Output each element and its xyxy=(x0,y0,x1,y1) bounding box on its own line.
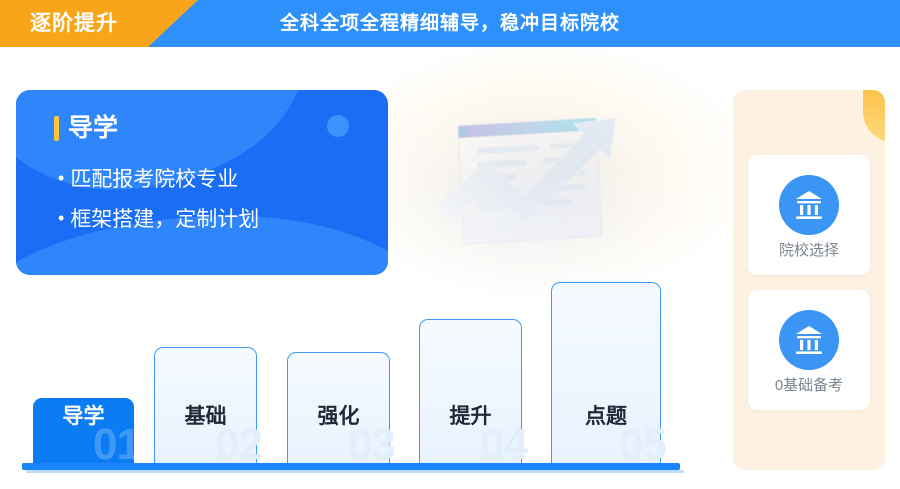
step-bar-number: 04 xyxy=(480,423,527,467)
bullet-dot-icon: • xyxy=(58,168,64,188)
growth-chart-document-illustration xyxy=(432,100,632,260)
step-bar-04[interactable]: 04提升 xyxy=(419,319,522,463)
step-bar-label: 强化 xyxy=(288,405,389,429)
header-badge-label: 逐阶提升 xyxy=(30,8,118,39)
card-bullet-text: 匹配报考院校专业 xyxy=(70,168,238,191)
dao-xue-info-card[interactable]: 导学 •匹配报考院校专业 •框架搭建，定制计划 xyxy=(16,90,388,275)
card-title-accent-bar xyxy=(54,116,59,141)
card-bullet-item: •框架搭建，定制计划 xyxy=(58,204,259,234)
sidebar-card-label: 院校选择 xyxy=(748,241,870,261)
sidebar-card-1[interactable]: 院校选择 xyxy=(748,155,870,275)
card-bullet-text: 框架搭建，定制计划 xyxy=(70,208,259,231)
steps-baseline xyxy=(22,463,680,470)
promo-banner-root: 全科全项全程精细辅导，稳冲目标院校 逐阶提升 导学 •匹配报考院校专业 •框架搭… xyxy=(0,0,900,489)
step-bar-number: 05 xyxy=(619,423,666,467)
sidebar-card-2[interactable]: 0基础备考 xyxy=(748,290,870,410)
bank-building-icon xyxy=(779,310,839,370)
step-bar-number: 03 xyxy=(348,423,395,467)
step-bar-label: 导学 xyxy=(33,405,134,429)
bullet-dot-icon: • xyxy=(58,208,64,228)
step-bar-label: 提升 xyxy=(420,405,521,429)
step-bar-03[interactable]: 03强化 xyxy=(287,352,390,463)
step-bar-01[interactable]: 01导学 xyxy=(33,398,134,463)
background-warm-glow xyxy=(330,40,750,300)
card-bullet-item: •匹配报考院校专业 xyxy=(58,164,238,194)
background-cool-glow xyxy=(380,90,680,290)
sidebar-corner-accent xyxy=(863,90,885,142)
card-title: 导学 xyxy=(68,114,118,142)
steps-baseline-shadow xyxy=(26,470,684,473)
step-bar-number: 02 xyxy=(215,423,262,467)
step-bar-number: 01 xyxy=(93,423,140,467)
bank-building-icon xyxy=(779,175,839,235)
step-bar-label: 点题 xyxy=(552,405,660,429)
sidebar-panel xyxy=(733,90,885,470)
step-bar-05[interactable]: 05点题 xyxy=(551,282,661,463)
card-content: 导学 •匹配报考院校专业 •框架搭建，定制计划 xyxy=(16,90,388,275)
header-bar: 全科全项全程精细辅导，稳冲目标院校 逐阶提升 xyxy=(0,0,900,47)
sidebar-card-label: 0基础备考 xyxy=(748,376,870,396)
step-bar-02[interactable]: 02基础 xyxy=(154,347,257,463)
card-title-row: 导学 xyxy=(54,114,118,142)
step-bar-label: 基础 xyxy=(155,405,256,429)
